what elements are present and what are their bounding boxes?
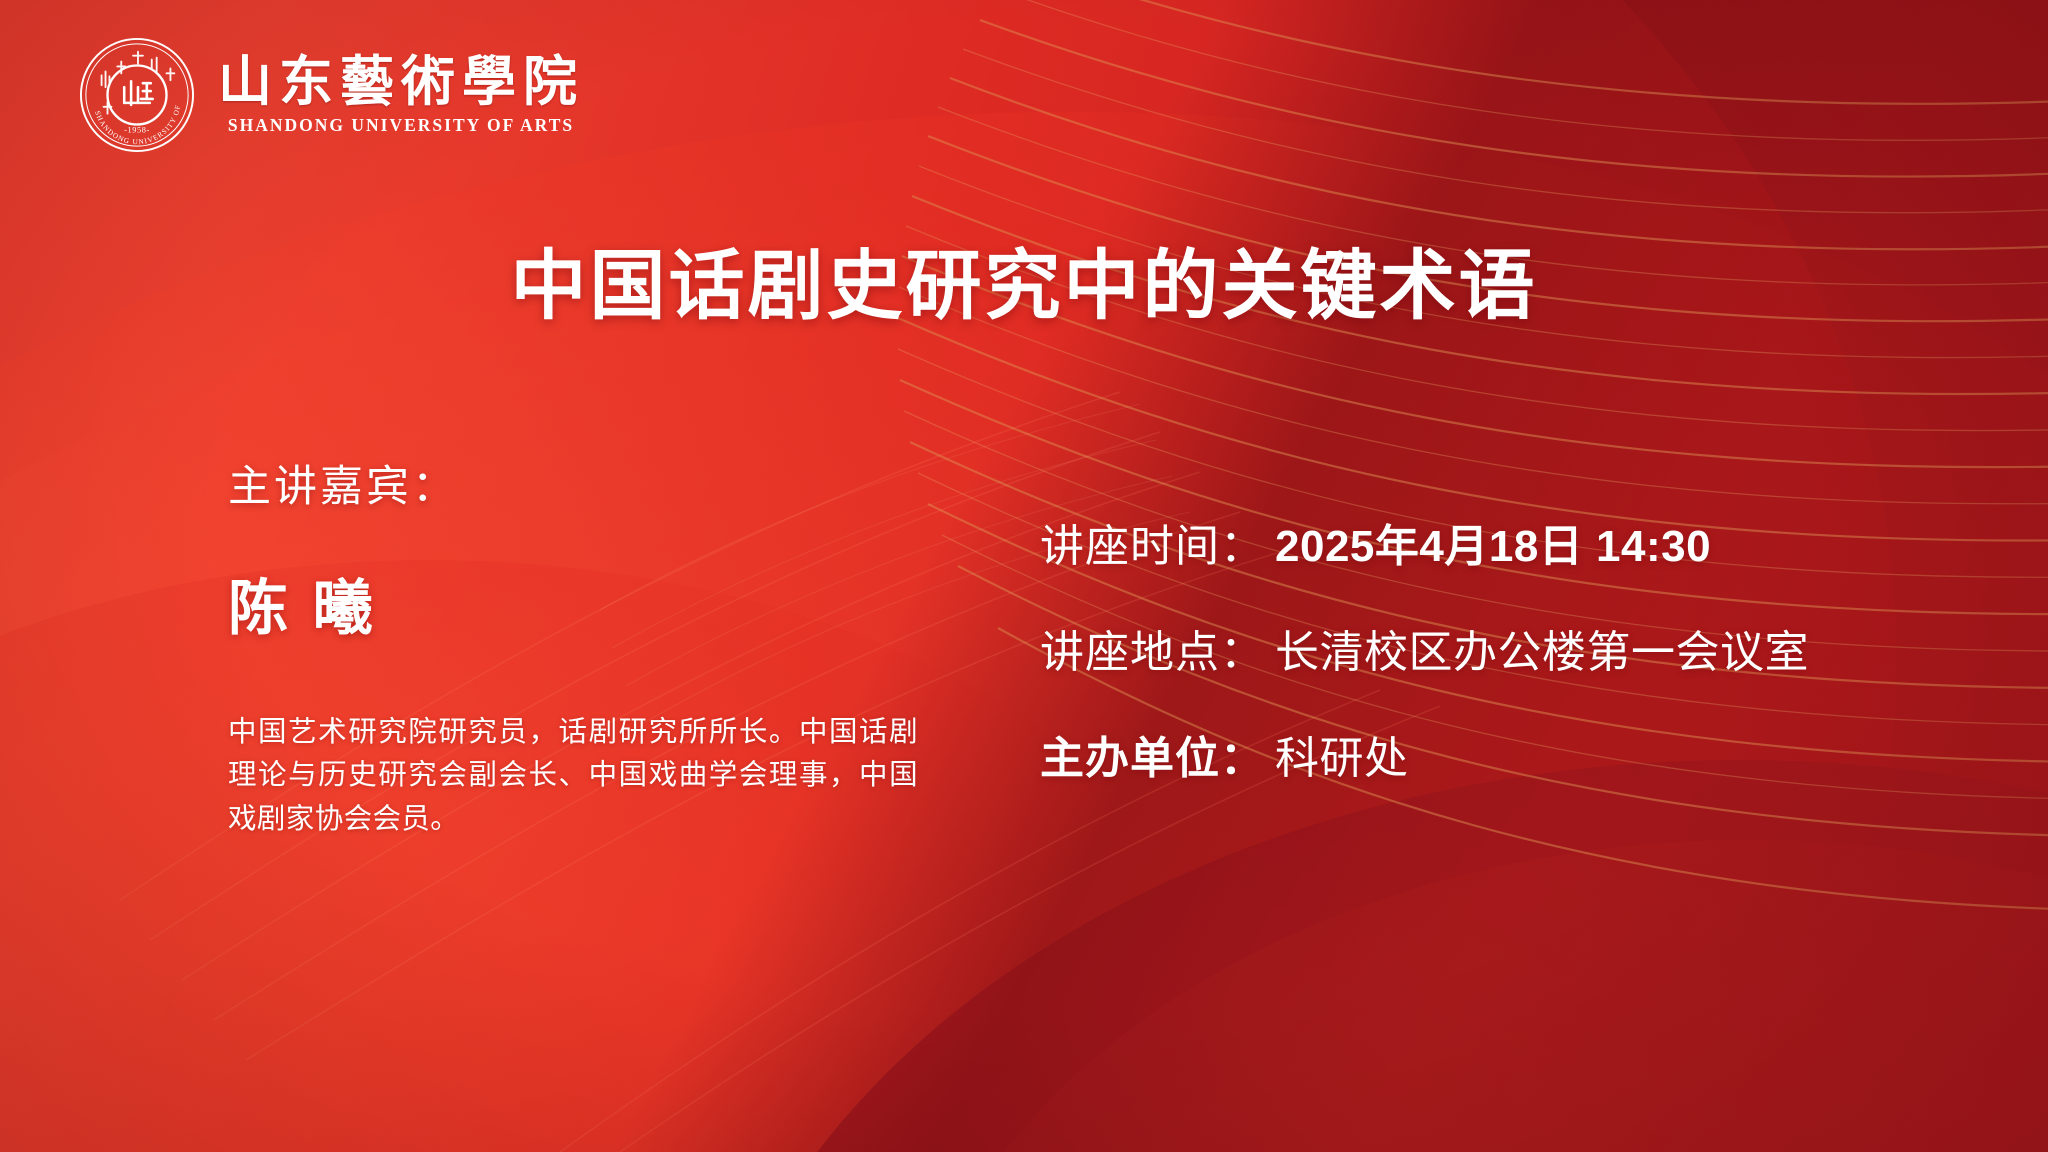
speaker-bio: 中国艺术研究院研究员，话剧研究所所长。中国话剧理论与历史研究会副会长、中国戏曲学…	[228, 711, 918, 841]
info-value-organizer: 科研处	[1275, 722, 1409, 786]
info-label-organizer: 主办单位：	[1040, 722, 1265, 786]
info-value-time: 2025年4月18日 14:30	[1275, 510, 1711, 574]
speaker-name: 陈 曦	[228, 560, 928, 647]
speaker-label: 主讲嘉宾：	[228, 452, 928, 514]
info-row-organizer: 主办单位： 科研处	[1040, 722, 1809, 786]
poster-title: 中国话剧史研究中的关键术语	[0, 224, 2048, 334]
info-row-time: 讲座时间： 2025年4月18日 14:30	[1040, 510, 1809, 574]
university-logo: -1958- SHANDONG UNIVERSITY OF ARTS 山东藝術學…	[78, 36, 584, 154]
university-seal-icon: -1958- SHANDONG UNIVERSITY OF ARTS	[78, 36, 196, 154]
lecture-info-block: 讲座时间： 2025年4月18日 14:30 讲座地点： 长清校区办公楼第一会议…	[1040, 510, 1809, 828]
info-label-location: 讲座地点：	[1040, 616, 1265, 680]
svg-text:-1958-: -1958-	[124, 125, 150, 134]
speaker-block: 主讲嘉宾： 陈 曦 中国艺术研究院研究员，话剧研究所所长。中国话剧理论与历史研究…	[228, 452, 928, 841]
logo-name-cn: 山东藝術學院	[218, 54, 584, 111]
info-label-time: 讲座时间：	[1040, 510, 1265, 574]
lecture-poster: -1958- SHANDONG UNIVERSITY OF ARTS 山东藝術學…	[0, 0, 2048, 1152]
logo-name-en: SHANDONG UNIVERSITY OF ARTS	[228, 115, 574, 136]
info-row-location: 讲座地点： 长清校区办公楼第一会议室	[1040, 616, 1809, 680]
info-value-location: 长清校区办公楼第一会议室	[1275, 616, 1809, 680]
